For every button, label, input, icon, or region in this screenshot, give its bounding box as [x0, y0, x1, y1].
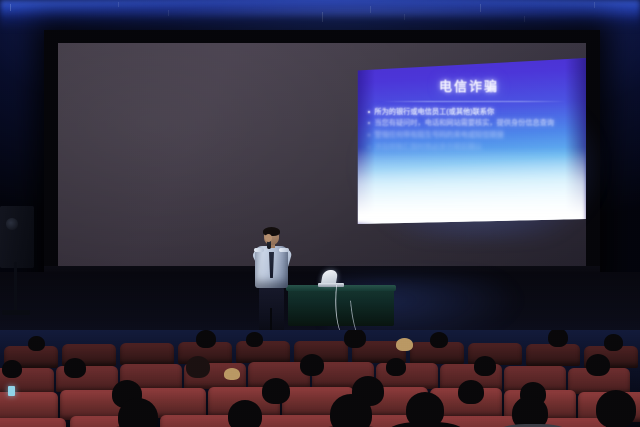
audience-head	[386, 358, 406, 376]
slide-background: 电信诈骗 所为的银行或电信员工(或其他)联系你 当您有疑问时，电话和网站需要核实…	[352, 58, 586, 224]
presenter-epaulet-left	[254, 248, 264, 252]
speaker-cone-icon	[6, 218, 18, 230]
audience-head	[596, 390, 636, 427]
presenter-epaulet-right	[279, 248, 289, 252]
audience-head	[228, 400, 262, 427]
audience-head	[2, 360, 22, 378]
projector-glare	[352, 148, 586, 224]
audience-head	[64, 358, 86, 378]
slide-bullet-2: 当您有疑问时，电话和网站需要核实，提供身份信息查询	[368, 119, 574, 128]
slide-title-rule	[382, 101, 567, 102]
audience-head	[330, 394, 372, 427]
slide-bullet-1: 所为的银行或电信员工(或其他)联系你	[368, 108, 574, 117]
audience-head	[262, 378, 290, 404]
audience-head	[474, 356, 496, 376]
bullet-dot-icon	[368, 134, 370, 136]
audience-head	[604, 334, 623, 351]
audience-head	[196, 330, 216, 348]
speaker-stand-foot	[2, 310, 30, 315]
audience-head	[28, 336, 45, 351]
seat	[120, 343, 174, 365]
speaker-stand	[14, 262, 17, 314]
audience-head	[586, 354, 610, 376]
bullet-dot-icon	[368, 122, 370, 124]
slide-title: 电信诈骗	[352, 76, 586, 95]
audience-head	[186, 356, 210, 378]
audience-head	[512, 396, 548, 427]
audience-head	[344, 330, 366, 348]
bullet-dot-icon	[368, 111, 370, 113]
seat	[236, 341, 290, 363]
audience-head	[430, 332, 448, 348]
audience-head-light-hair	[224, 368, 240, 380]
audience-head	[548, 330, 568, 347]
projected-slide: 电信诈骗 所为的银行或电信员工(或其他)联系你 当您有疑问时，电话和网站需要核实…	[352, 58, 586, 224]
floor-speaker	[0, 206, 34, 268]
audience-area	[0, 330, 640, 427]
presenter	[246, 228, 300, 340]
slide-bullet-text: 所为的银行或电信员工(或其他)联系你	[374, 108, 494, 117]
audience-head-light-hair	[396, 338, 413, 351]
phone-screen	[8, 386, 15, 396]
presenter-hand	[265, 234, 272, 242]
audience-head	[246, 332, 263, 347]
audience-head	[458, 380, 484, 404]
seat	[526, 344, 580, 366]
slide-bullet-text: 当您有疑问时，电话和网站需要核实，提供身份信息查询	[374, 119, 554, 128]
audience-head	[300, 354, 324, 376]
seat	[0, 418, 66, 427]
slide-bullet-3: 警惕任何带有陌生号码的来电或短信链接	[368, 131, 574, 140]
seat	[250, 415, 336, 427]
slide-bullet-text: 警惕任何带有陌生号码的来电或短信链接	[374, 131, 503, 140]
auditorium-photo: 电信诈骗 所为的银行或电信员工(或其他)联系你 当您有疑问时，电话和网站需要核实…	[0, 0, 640, 427]
